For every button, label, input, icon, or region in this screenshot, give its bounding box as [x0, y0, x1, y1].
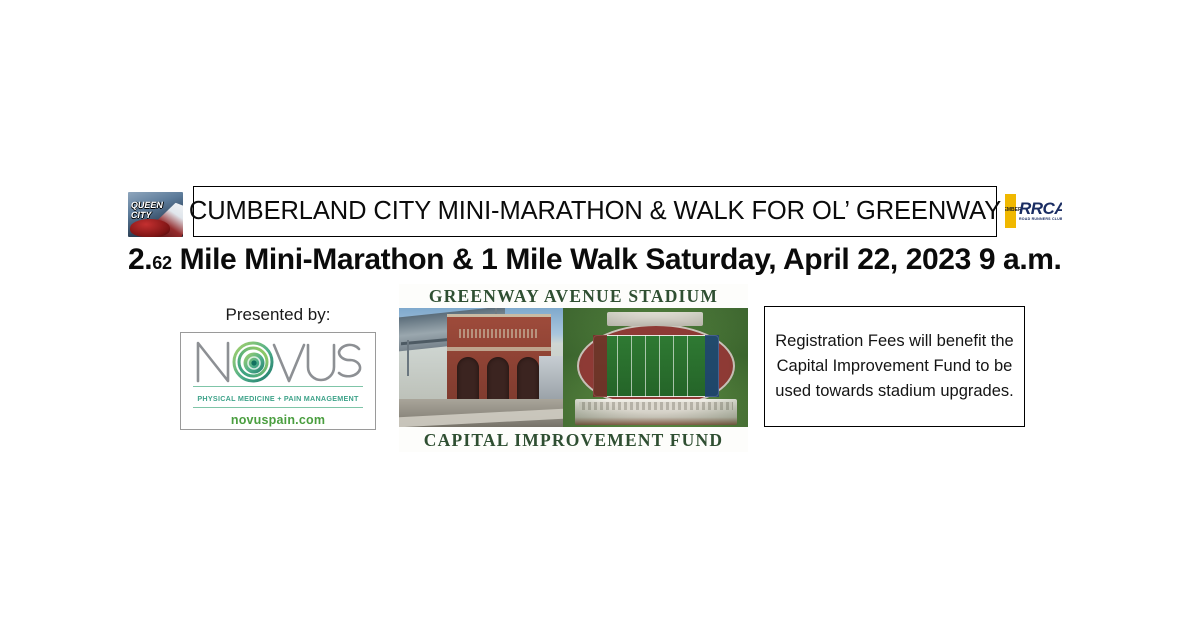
queen-city-running-logo-icon: QUEEN CITY: [128, 192, 183, 237]
rrca-subtitle-text: ROAD RUNNERS CLUB OF AMERICA: [1019, 217, 1062, 222]
distance-whole: 2.: [128, 243, 152, 276]
rrca-wordmark-text: RRCA: [1019, 201, 1062, 217]
concourse-wall: [539, 356, 563, 400]
queen-city-logo-line2: CITY: [130, 210, 152, 220]
event-subtitle: 2.62 Mile Mini-Marathon & 1 Mile Walk Sa…: [128, 243, 1073, 277]
novus-website-url[interactable]: novuspain.com: [231, 413, 325, 427]
stadium-graphic-bottom-title: CAPITAL IMPROVEMENT FUND: [399, 429, 748, 451]
subtitle-rest: Mile Mini-Marathon & 1 Mile Walk Saturda…: [172, 243, 1062, 276]
facade-sign-lettering: [459, 329, 539, 338]
novus-tagline-band: PHYSICAL MEDICINE + PAIN MANAGEMENT: [193, 386, 363, 408]
stadium-photo-pair: [399, 308, 748, 427]
header-row: QUEEN CITY CUMBERLAND CITY MINI-MARATHON…: [128, 186, 1063, 242]
aerial-vignette: [563, 308, 748, 427]
presented-by-label: Presented by:: [180, 305, 376, 325]
stadium-aerial-photo: [563, 308, 748, 427]
novus-logo-icon: [192, 337, 364, 383]
distance-fraction: 62: [152, 253, 171, 273]
registration-fees-text: Registration Fees will benefit the Capit…: [765, 329, 1024, 404]
registration-fees-info-box: Registration Fees will benefit the Capit…: [764, 306, 1025, 427]
stadium-capital-improvement-graphic: GREENWAY AVENUE STADIUM: [399, 284, 748, 452]
roof-strut-1: [407, 340, 409, 376]
event-title-box: CUMBERLAND CITY MINI-MARATHON & WALK FOR…: [193, 186, 997, 237]
queen-city-logo-line1: QUEEN: [130, 200, 164, 210]
rrca-member-logo-icon: MEMBER RRCA ROAD RUNNERS CLUB OF AMERICA: [1005, 194, 1062, 228]
stadium-facade-photo: [399, 308, 563, 427]
novus-tagline: PHYSICAL MEDICINE + PAIN MANAGEMENT: [197, 394, 358, 403]
novus-logo-svg: [192, 337, 364, 383]
flyer-canvas: QUEEN CITY CUMBERLAND CITY MINI-MARATHON…: [0, 0, 1200, 630]
facade-arch-1: [457, 357, 479, 405]
rrca-wordmark: RRCA ROAD RUNNERS CLUB OF AMERICA: [1016, 194, 1062, 228]
rrca-member-badge: MEMBER: [1005, 194, 1016, 228]
facade-arch-3: [517, 357, 539, 405]
sponsor-logo-box: PHYSICAL MEDICINE + PAIN MANAGEMENT novu…: [180, 332, 376, 430]
logo-red-swoosh: [130, 219, 170, 237]
page-title: CUMBERLAND CITY MINI-MARATHON & WALK FOR…: [189, 197, 1001, 226]
facade-arch-2: [487, 357, 509, 405]
stadium-graphic-top-title: GREENWAY AVENUE STADIUM: [399, 285, 748, 307]
facade-stone-band: [447, 347, 551, 351]
